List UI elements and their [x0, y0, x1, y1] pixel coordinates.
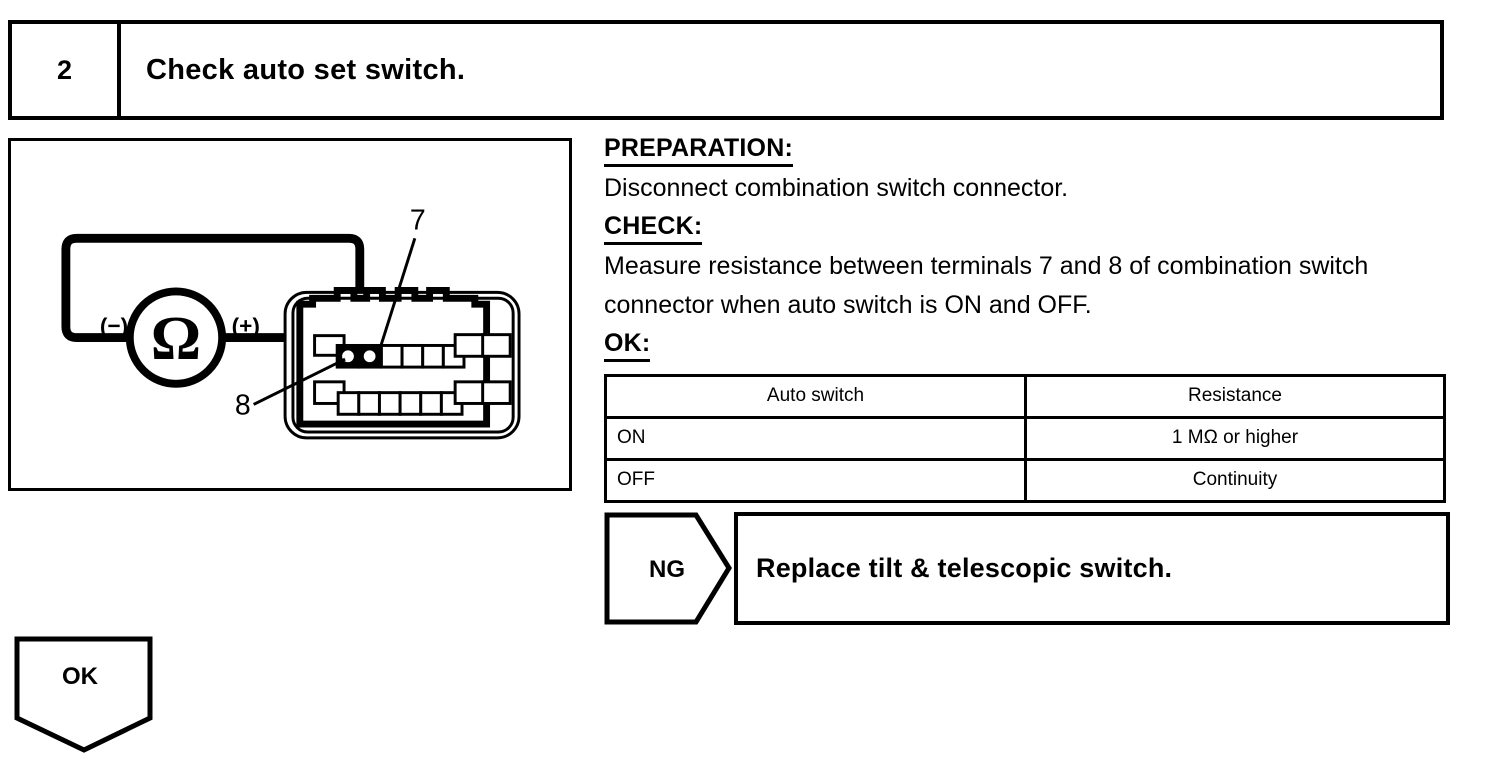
table-header-row: Auto switch Resistance — [606, 375, 1445, 417]
step-number: 2 — [57, 55, 72, 86]
positive-lead-label: (+) — [232, 314, 260, 339]
negative-lead-label: (−) — [100, 314, 128, 339]
callout-8: 8 — [235, 389, 251, 421]
table-row: ON 1 MΩ or higher — [606, 417, 1445, 459]
instructions-column: PREPARATION: Disconnect combination swit… — [604, 134, 1450, 503]
ok-label: OK — [14, 663, 146, 691]
terminal-bottom-wide-right-1 — [455, 382, 484, 404]
terminal-bottom-2 — [359, 393, 380, 415]
ng-action-box: Replace tilt & telescopic switch. — [734, 512, 1450, 625]
ng-action-text: Replace tilt & telescopic switch. — [756, 553, 1172, 584]
preparation-heading: PREPARATION: — [604, 134, 793, 167]
column-header-auto-switch: Auto switch — [606, 375, 1026, 417]
terminal-bottom-1 — [338, 393, 359, 415]
check-text: Measure resistance between terminals 7 a… — [604, 247, 1450, 326]
terminal-top-wide-right-2 — [483, 335, 511, 357]
check-heading: CHECK: — [604, 212, 702, 245]
cell-resistance-off: Continuity — [1026, 459, 1445, 501]
terminal-top-3 — [423, 345, 444, 367]
terminal-bottom-wide-right-2 — [483, 382, 511, 404]
ok-arrow-polygon — [17, 639, 150, 750]
ohm-symbol: Ω — [151, 303, 201, 373]
combination-switch-connector — [285, 290, 519, 437]
terminal-bottom-3 — [379, 393, 400, 415]
preparation-block: PREPARATION: Disconnect combination swit… — [604, 134, 1450, 209]
preparation-text: Disconnect combination switch connector. — [604, 169, 1450, 209]
cell-resistance-on: 1 MΩ or higher — [1026, 417, 1445, 459]
column-header-resistance: Resistance — [1026, 375, 1445, 417]
diagram-panel: Ω (−) (+) — [8, 138, 572, 491]
terminal-top-1 — [381, 345, 402, 367]
step-title-cell: Check auto set switch. — [121, 24, 1440, 116]
terminal-7-bore — [363, 349, 377, 363]
terminal-bottom-5 — [421, 393, 442, 415]
ok-block: OK: — [604, 329, 1450, 364]
cell-switch-on: ON — [606, 417, 1026, 459]
check-block: CHECK: Measure resistance between termin… — [604, 212, 1450, 326]
ok-arrow-shape — [14, 636, 162, 754]
step-number-cell: 2 — [12, 24, 121, 116]
table-row: OFF Continuity — [606, 459, 1445, 501]
ok-heading: OK: — [604, 329, 650, 362]
ng-label: NG — [632, 556, 702, 584]
terminal-top-wide-right-1 — [455, 335, 484, 357]
ohmmeter-connector-diagram: Ω (−) (+) — [11, 141, 569, 488]
terminal-top-2 — [402, 345, 423, 367]
callout-7: 7 — [410, 204, 426, 236]
ng-branch: NG Replace tilt & telescopic switch. — [604, 512, 1450, 625]
step-title: Check auto set switch. — [146, 54, 465, 87]
step-header: 2 Check auto set switch. — [8, 20, 1444, 120]
result-table: Auto switch Resistance ON 1 MΩ or higher… — [604, 374, 1446, 503]
cell-switch-off: OFF — [606, 459, 1026, 501]
terminal-bottom-4 — [400, 393, 421, 415]
